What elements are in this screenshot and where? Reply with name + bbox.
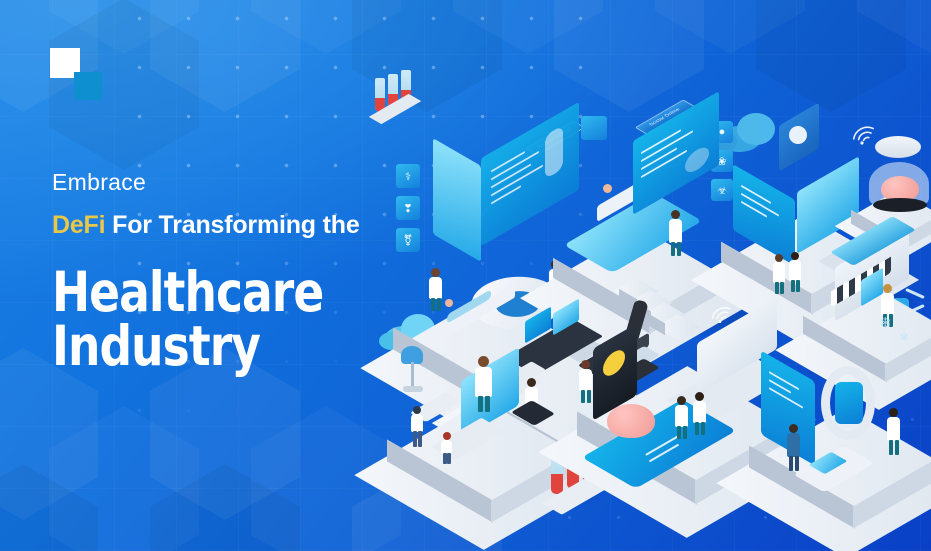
page-title: Healthcare Industry <box>52 266 438 374</box>
wifi-icon <box>845 114 879 148</box>
icon-tile-stethoscope[interactable]: ☣ <box>711 179 733 201</box>
headline-line-2: Industry <box>52 320 438 374</box>
wifi-icon-lab <box>705 296 735 326</box>
droplet-icon: ● <box>719 126 726 138</box>
snowflake-icon-2: ❄ <box>899 330 909 344</box>
stethoscope-icon: ☣ <box>717 184 727 197</box>
headline-line-1: Healthcare <box>52 266 438 320</box>
hero-banner: Embrace DeFi For Transforming the Health… <box>0 0 931 551</box>
xray-thumbnail[interactable] <box>581 116 607 140</box>
patient-chart-screen[interactable] <box>481 102 579 247</box>
subheadline-accent: DeFi <box>52 211 105 239</box>
headline-block: Embrace DeFi For Transforming the Health… <box>52 170 472 374</box>
brand-logo[interactable] <box>50 48 108 106</box>
eyebrow-text: Embrace <box>52 170 472 195</box>
subheadline: DeFi For Transforming the <box>52 212 472 240</box>
subheadline-rest: For Transforming the <box>112 211 359 239</box>
snowflake-icon: ❄ <box>879 314 892 332</box>
logo-square-cyan <box>74 72 102 100</box>
dome-base <box>873 198 927 212</box>
brain-graphic <box>607 404 655 438</box>
dome-cap <box>875 136 921 158</box>
